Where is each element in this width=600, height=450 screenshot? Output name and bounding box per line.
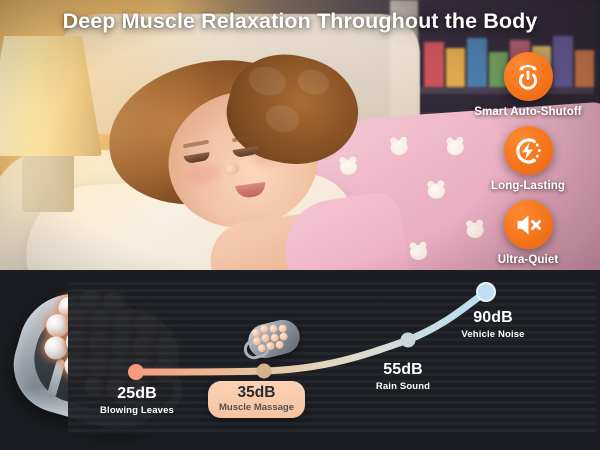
datapoint-blowing-leaves: 25dB Blowing Leaves: [82, 386, 192, 416]
speaker-mute-icon: [504, 200, 553, 249]
noise-chart: 25dB Blowing Leaves 35dB Muscle Massage …: [68, 282, 596, 442]
noise-comparison-panel: 25dB Blowing Leaves 35dB Muscle Massage …: [0, 270, 600, 450]
datapoint-rain-sound: 55dB Rain Sound: [348, 362, 458, 392]
feature-long-lasting[interactable]: Long-Lasting: [464, 126, 592, 192]
datapoint-muscle-massage[interactable]: 35dB Muscle Massage: [208, 381, 305, 418]
feature-label: Ultra-Quiet: [498, 254, 559, 266]
feature-list: Smart Auto-Shutoff Long-Lasting: [464, 52, 592, 274]
power-auto-shutoff-icon: [504, 52, 553, 101]
feature-label: Smart Auto-Shutoff: [474, 106, 581, 118]
datapoint-vehicle-noise: 90dB Vehicle Noise: [438, 310, 548, 340]
battery-bolt-icon: [504, 126, 553, 175]
feature-smart-auto-shutoff[interactable]: Smart Auto-Shutoff: [464, 52, 592, 118]
chart-line: [68, 282, 596, 442]
feature-label: Long-Lasting: [491, 180, 565, 192]
page-title: Deep Muscle Relaxation Throughout the Bo…: [0, 9, 600, 34]
feature-ultra-quiet[interactable]: Ultra-Quiet: [464, 200, 592, 266]
promo-banner: Deep Muscle Relaxation Throughout the Bo…: [0, 0, 600, 450]
